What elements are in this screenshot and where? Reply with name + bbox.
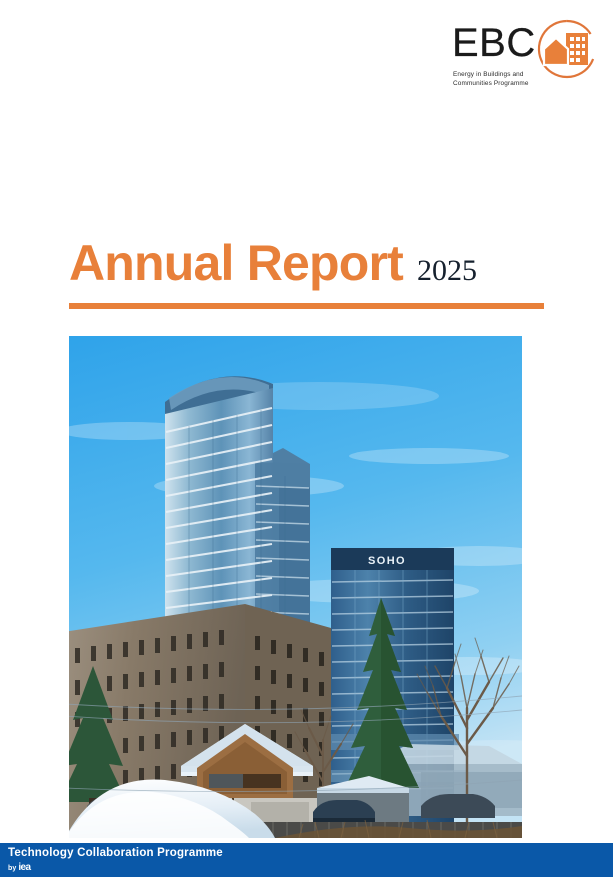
banner-by-label: by: [8, 865, 16, 872]
ebc-wordmark: EBC: [452, 22, 536, 64]
banner-subtitle: by iea: [8, 862, 30, 873]
tcp-banner: Technology Collaboration Programme by ie…: [0, 843, 613, 877]
report-year: 2025: [417, 255, 477, 287]
soho-building-sign: SOHO: [368, 555, 406, 567]
page-title: Annual Report: [69, 237, 403, 289]
cover-photo: SOHO: [69, 336, 522, 838]
iea-wordmark: iea: [18, 862, 30, 873]
ebc-logo: EBC Energy in Buildings and Communities …: [452, 18, 600, 98]
cover-photo-illustration: SOHO: [69, 336, 522, 838]
house-and-building-circle-icon: [536, 18, 598, 80]
title-divider: [69, 303, 544, 309]
cover-title-row: Annual Report 2025: [69, 237, 549, 299]
banner-title: Technology Collaboration Programme: [8, 847, 223, 859]
